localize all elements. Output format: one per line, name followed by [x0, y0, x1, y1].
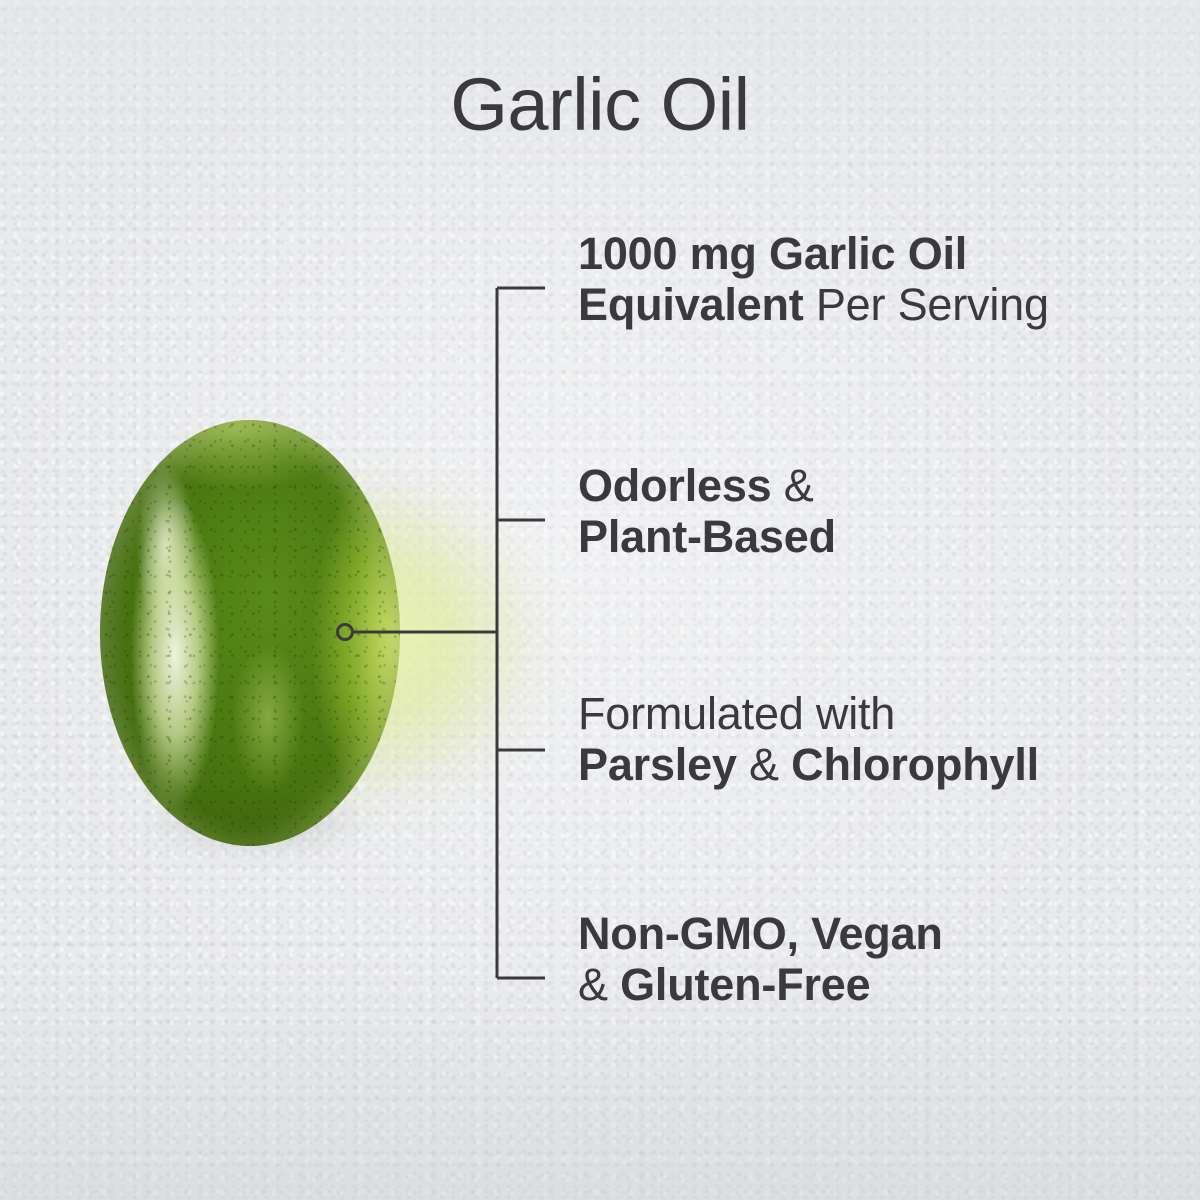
- callout-dosage: 1000 mg Garlic OilEquivalent Per Serving: [578, 228, 1178, 331]
- callout-odorless-plant-based: Odorless &Plant-Based: [578, 460, 1178, 563]
- callout-line: 1000 mg Garlic Oil: [578, 228, 1178, 279]
- callout-text-run: Formulated with: [578, 688, 895, 739]
- callout-text-run: Non-GMO, Vegan: [578, 908, 943, 959]
- callout-text-run: &: [771, 460, 813, 511]
- callout-line: Parsley & Chlorophyll: [578, 739, 1178, 790]
- callout-text-run: &: [737, 739, 791, 790]
- callout-text-run: Chlorophyll: [791, 739, 1039, 790]
- callout-formulated-with: Formulated withParsley & Chlorophyll: [578, 688, 1178, 791]
- callout-line: Non-GMO, Vegan: [578, 908, 1178, 959]
- callout-line: Plant-Based: [578, 511, 1178, 562]
- leader-marker-icon: [338, 625, 353, 640]
- callout-line: & Gluten-Free: [578, 959, 1178, 1010]
- callout-text-run: Per Serving: [804, 279, 1049, 330]
- callout-text-run: &: [578, 959, 620, 1010]
- callout-text-run: Odorless: [578, 460, 771, 511]
- callout-text-run: Plant-Based: [578, 511, 836, 562]
- callout-line: Formulated with: [578, 688, 1178, 739]
- callout-certifications: Non-GMO, Vegan& Gluten-Free: [578, 908, 1178, 1011]
- callout-text-run: Gluten-Free: [620, 959, 870, 1010]
- callout-line: Equivalent Per Serving: [578, 279, 1178, 330]
- callout-text-run: 1000 mg Garlic Oil: [578, 228, 967, 279]
- callout-text-run: Parsley: [578, 739, 737, 790]
- callout-bracket: [0, 0, 1200, 1200]
- infographic-canvas: Garlic Oil 1000 mg Garlic OilEquivalent …: [0, 0, 1200, 1200]
- callout-line: Odorless &: [578, 460, 1178, 511]
- callout-text-run: Equivalent: [578, 279, 804, 330]
